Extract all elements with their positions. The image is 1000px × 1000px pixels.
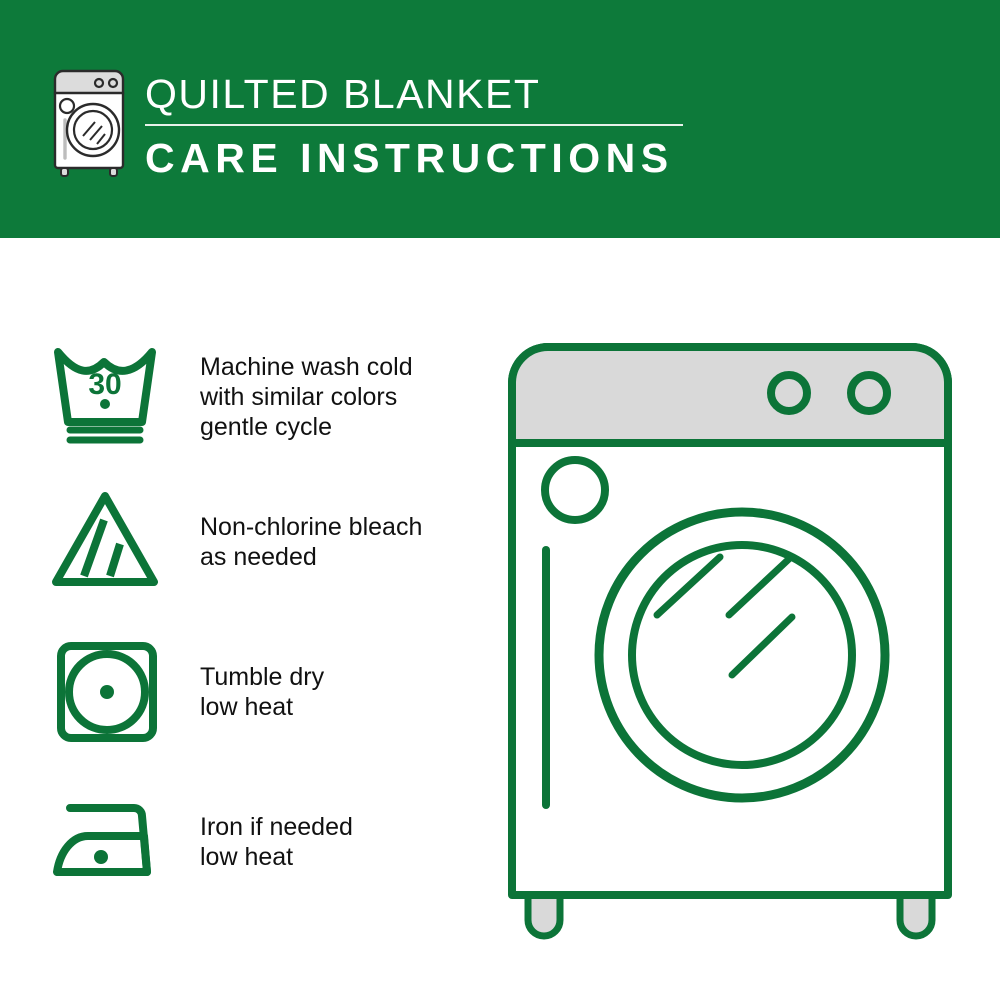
wash-dot-icon — [100, 399, 110, 409]
care-text-tumble-dry: Tumble dry low heat — [200, 662, 470, 722]
care-text-line: low heat — [200, 692, 470, 722]
care-row-tumble-dry: Tumble dry low heat — [0, 636, 470, 756]
title-divider — [145, 124, 683, 126]
bleach-triangle-icon — [48, 486, 168, 596]
care-text-line: gentle cycle — [200, 412, 470, 442]
care-text-line: Iron if needed — [200, 812, 470, 842]
care-row-wash: 30 Machine wash cold with similar colors… — [0, 336, 470, 456]
page-title-primary: QUILTED BLANKET — [145, 70, 690, 118]
care-row-iron: Iron if needed low heat — [0, 786, 470, 906]
wash-temperature-label: 30 — [88, 368, 121, 401]
care-text-wash: Machine wash cold with similar colors ge… — [200, 352, 470, 442]
iron-heat-dot-icon — [94, 850, 108, 864]
care-text-line: Machine wash cold — [200, 352, 470, 382]
iron-icon — [48, 786, 168, 896]
wash-tub-icon: 30 — [48, 336, 168, 446]
care-text-line: as needed — [200, 542, 470, 572]
tumble-dry-icon — [48, 636, 168, 746]
dry-heat-dot-icon — [100, 685, 114, 699]
header-band: QUILTED BLANKET CARE INSTRUCTIONS — [0, 0, 1000, 238]
care-text-bleach: Non-chlorine bleach as needed — [200, 512, 470, 572]
washing-machine-icon — [45, 68, 143, 178]
care-text-line: with similar colors — [200, 382, 470, 412]
care-text-line: Non-chlorine bleach — [200, 512, 470, 542]
header-title-block: QUILTED BLANKET CARE INSTRUCTIONS — [145, 70, 690, 182]
control-panel — [512, 347, 948, 443]
care-text-line: low heat — [200, 842, 470, 872]
care-instructions-infographic: QUILTED BLANKET CARE INSTRUCTIONS 30 — [0, 0, 1000, 1000]
care-row-bleach: Non-chlorine bleach as needed — [0, 486, 470, 606]
care-text-line: Tumble dry — [200, 662, 470, 692]
care-text-iron: Iron if needed low heat — [200, 812, 470, 872]
washing-machine-illustration — [490, 325, 970, 945]
page-title-secondary: CARE INSTRUCTIONS — [145, 134, 690, 182]
